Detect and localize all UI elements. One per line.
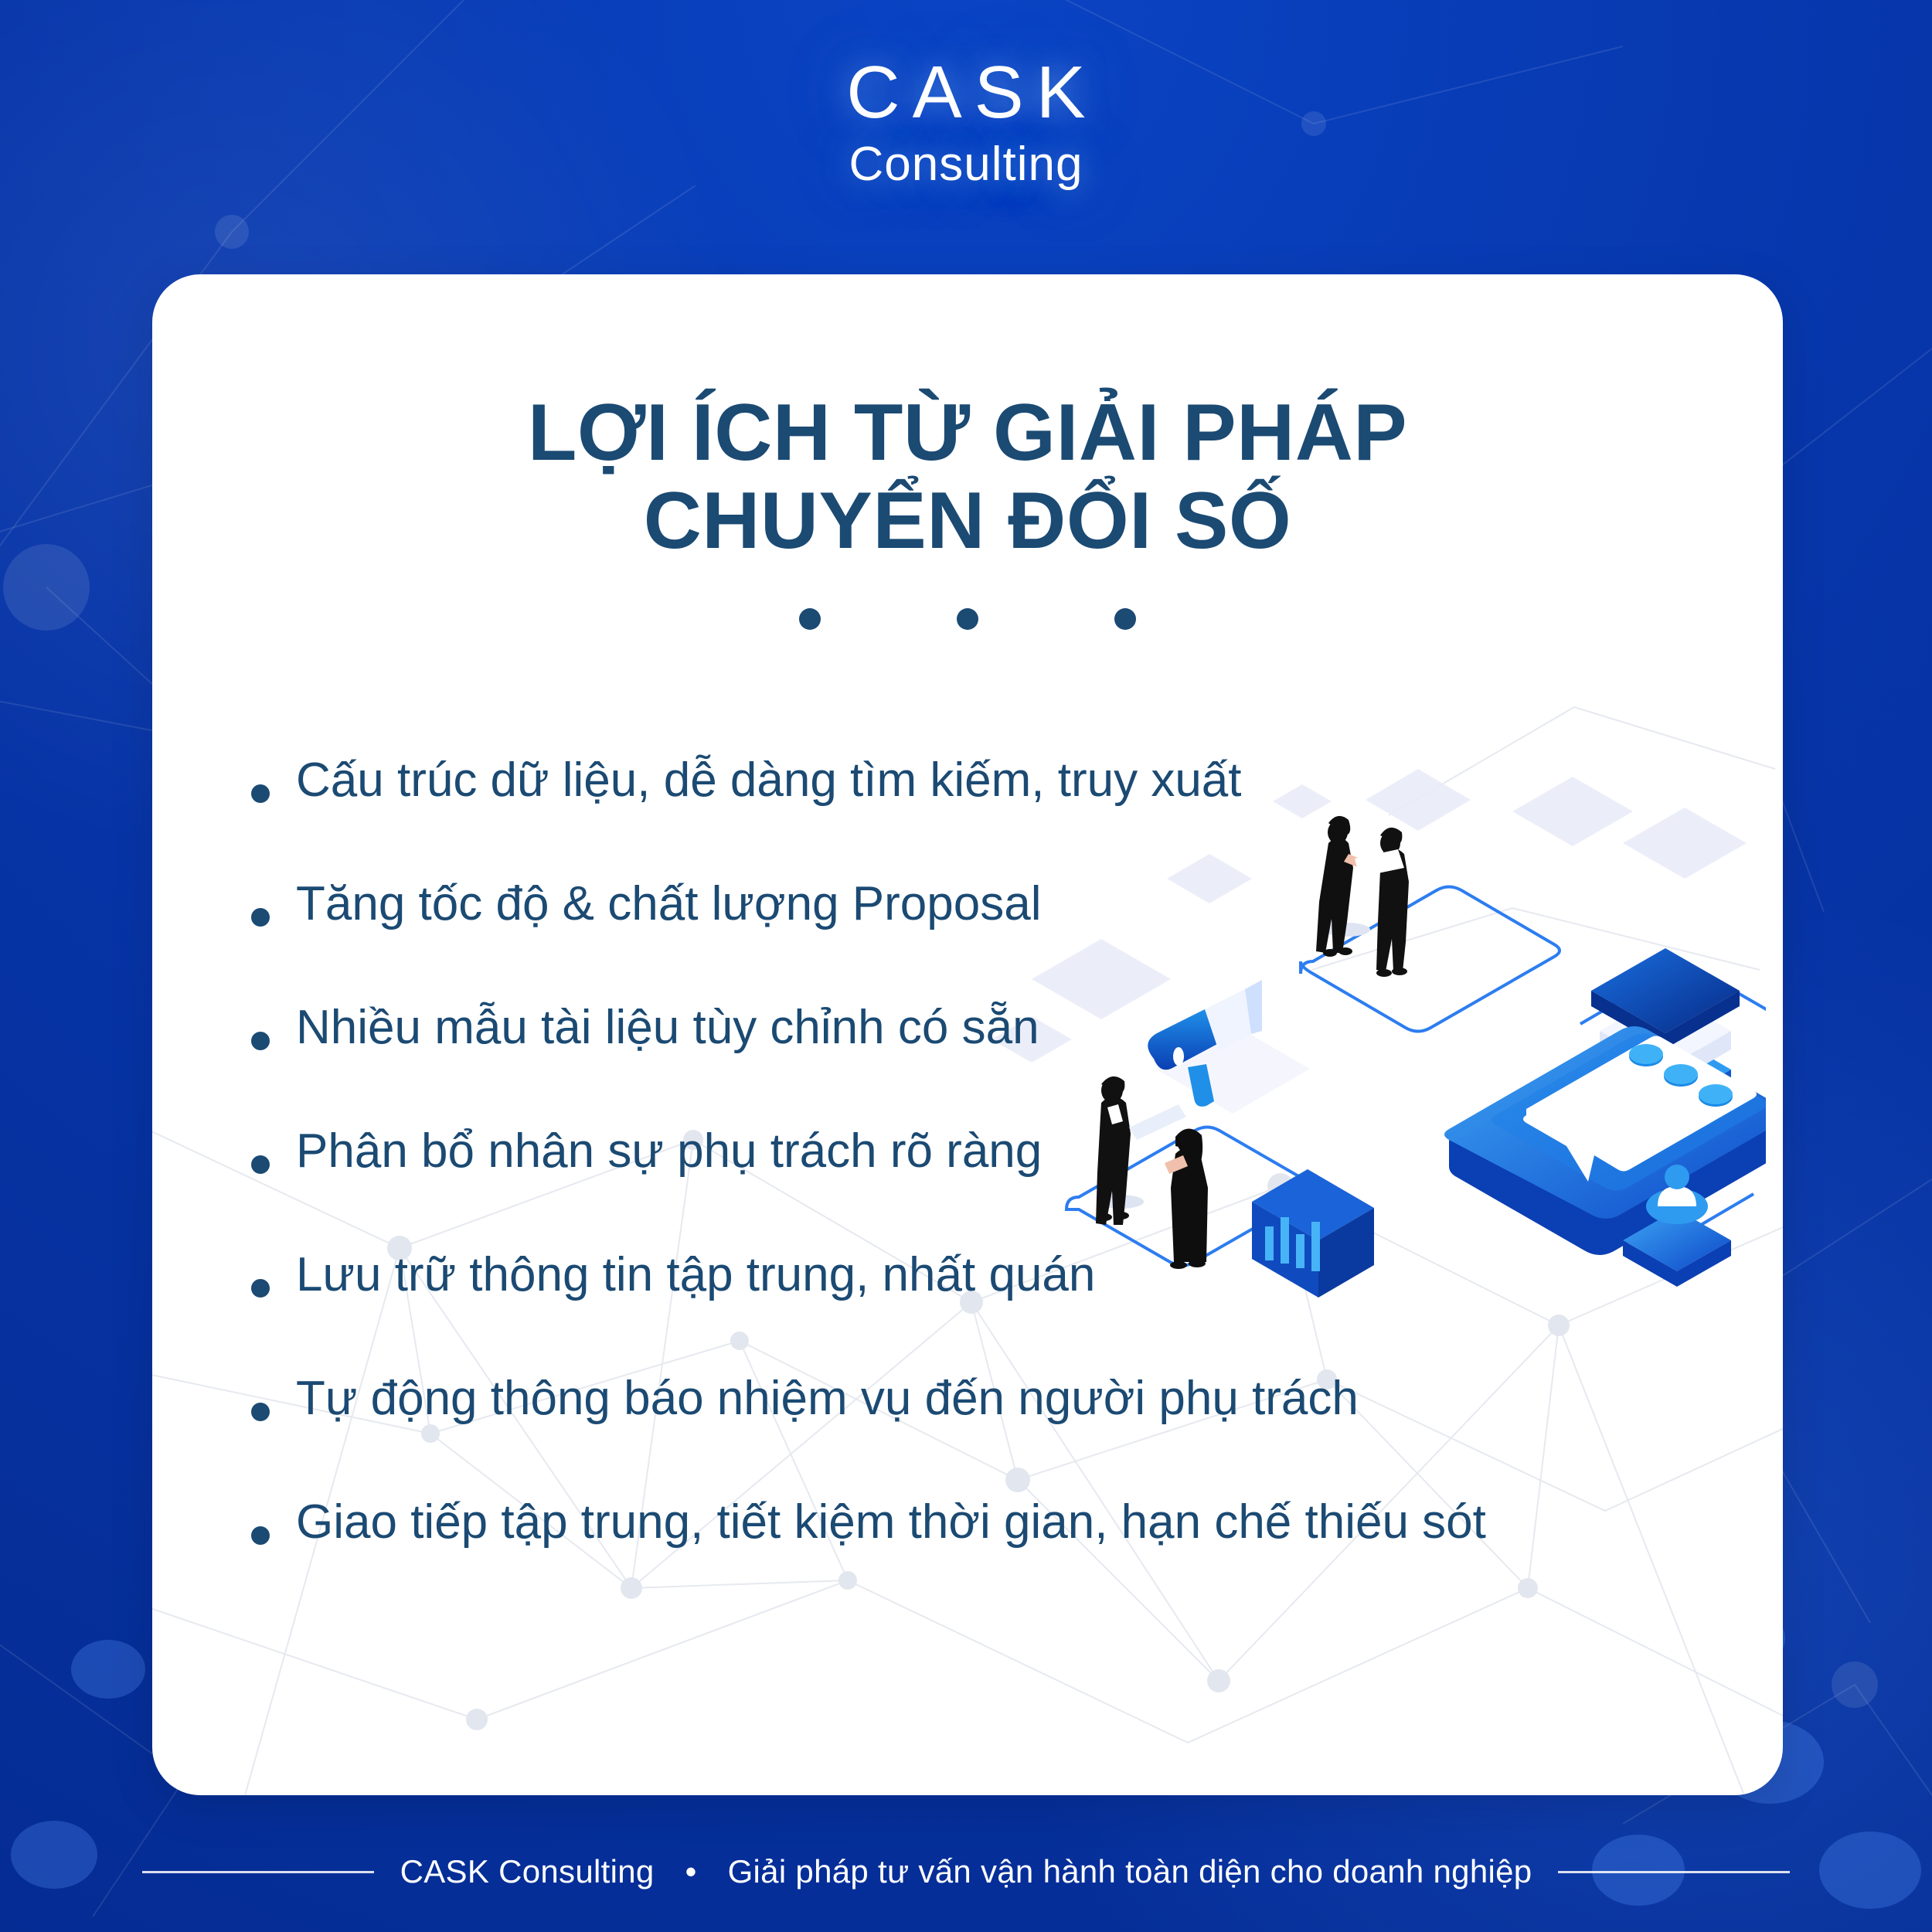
content-card: LỢI ÍCH TỪ GIẢI PHÁP CHUYỂN ĐỔI SỐ Cấu t… (152, 274, 1783, 1795)
list-item: Lưu trữ thông tin tập trung, nhất quán (237, 1233, 1752, 1356)
list-item-label: Lưu trữ thông tin tập trung, nhất quán (296, 1247, 1095, 1304)
footer-tagline: Giải pháp tư vấn vận hành toàn diện cho … (728, 1853, 1532, 1890)
list-item: Phân bổ nhân sự phụ trách rõ ràng (237, 1109, 1752, 1233)
list-item-label: Cấu trúc dữ liệu, dễ dàng tìm kiếm, truy… (296, 752, 1242, 809)
divider-dot (1114, 608, 1136, 630)
page-title-line2: CHUYỂN ĐỔI SỐ (152, 477, 1783, 565)
list-item: Cấu trúc dữ liệu, dễ dàng tìm kiếm, truy… (237, 738, 1752, 862)
list-item-label: Nhiều mẫu tài liệu tùy chỉnh có sẵn (296, 999, 1039, 1056)
poster-canvas: CASK Consulting (0, 0, 1932, 1932)
brand-logo: CASK Consulting (0, 56, 1932, 189)
bullet-dot-icon (251, 784, 270, 803)
page-title: LỢI ÍCH TỪ GIẢI PHÁP CHUYỂN ĐỔI SỐ (152, 389, 1783, 566)
list-item-label: Giao tiếp tập trung, tiết kiệm thời gian… (296, 1494, 1486, 1551)
benefits-list: Cấu trúc dữ liệu, dễ dàng tìm kiếm, truy… (237, 738, 1752, 1604)
list-item: Tăng tốc độ & chất lượng Proposal (237, 862, 1752, 985)
logo-wordmark: CASK (0, 56, 1932, 130)
dots-divider (152, 608, 1783, 634)
bullet-dot-icon (251, 1279, 270, 1298)
footer-rule-right (1558, 1871, 1790, 1873)
footer-separator-icon: • (681, 1853, 702, 1890)
footer-brand: CASK Consulting (400, 1853, 655, 1890)
footer-rule-left (142, 1871, 374, 1873)
footer-bar: CASK Consulting • Giải pháp tư vấn vận h… (0, 1841, 1932, 1903)
list-item: Nhiều mẫu tài liệu tùy chỉnh có sẵn (237, 985, 1752, 1109)
list-item: Giao tiếp tập trung, tiết kiệm thời gian… (237, 1480, 1752, 1604)
bullet-dot-icon (251, 1155, 270, 1174)
list-item: Tự động thông báo nhiệm vụ đến người phụ… (237, 1356, 1752, 1480)
list-item-label: Tự động thông báo nhiệm vụ đến người phụ… (296, 1370, 1359, 1427)
divider-dot (799, 608, 821, 630)
page-title-line1: LỢI ÍCH TỪ GIẢI PHÁP (528, 388, 1407, 478)
list-item-label: Phân bổ nhân sự phụ trách rõ ràng (296, 1123, 1042, 1180)
list-item-label: Tăng tốc độ & chất lượng Proposal (296, 876, 1041, 933)
bullet-dot-icon (251, 1526, 270, 1545)
bullet-dot-icon (251, 1032, 270, 1050)
bullet-dot-icon (251, 1403, 270, 1421)
divider-dot (957, 608, 978, 630)
bullet-dot-icon (251, 908, 270, 927)
logo-tagline: Consulting (0, 141, 1932, 189)
